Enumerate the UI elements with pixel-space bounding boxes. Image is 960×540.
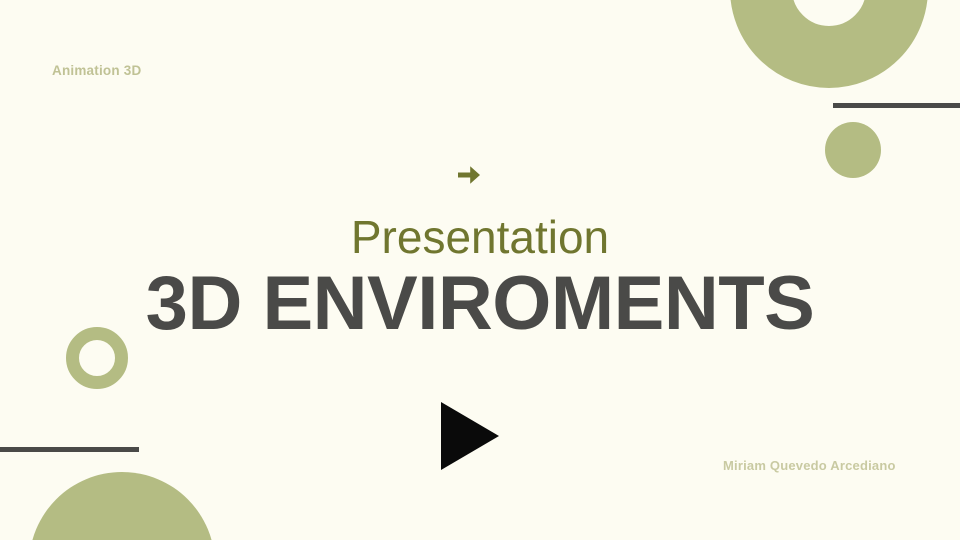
eyebrow-label: Animation 3D [52, 63, 141, 78]
presentation-slide: Animation 3D Presentation 3D ENVIROMENTS… [0, 0, 960, 540]
play-triangle-icon[interactable] [438, 400, 502, 472]
page-title: 3D ENVIROMENTS [0, 262, 960, 346]
decorative-line-bottom-left [0, 447, 139, 452]
author-name: Miriam Quevedo Arcediano [723, 458, 896, 473]
decorative-circle-bottom-left [29, 472, 215, 540]
arrow-right-icon [449, 158, 489, 192]
decorative-line-top-right [833, 103, 960, 108]
decorative-ring-top-right [730, 0, 928, 88]
decorative-dot-top-right [825, 122, 881, 178]
slide-subtitle: Presentation [0, 212, 960, 263]
